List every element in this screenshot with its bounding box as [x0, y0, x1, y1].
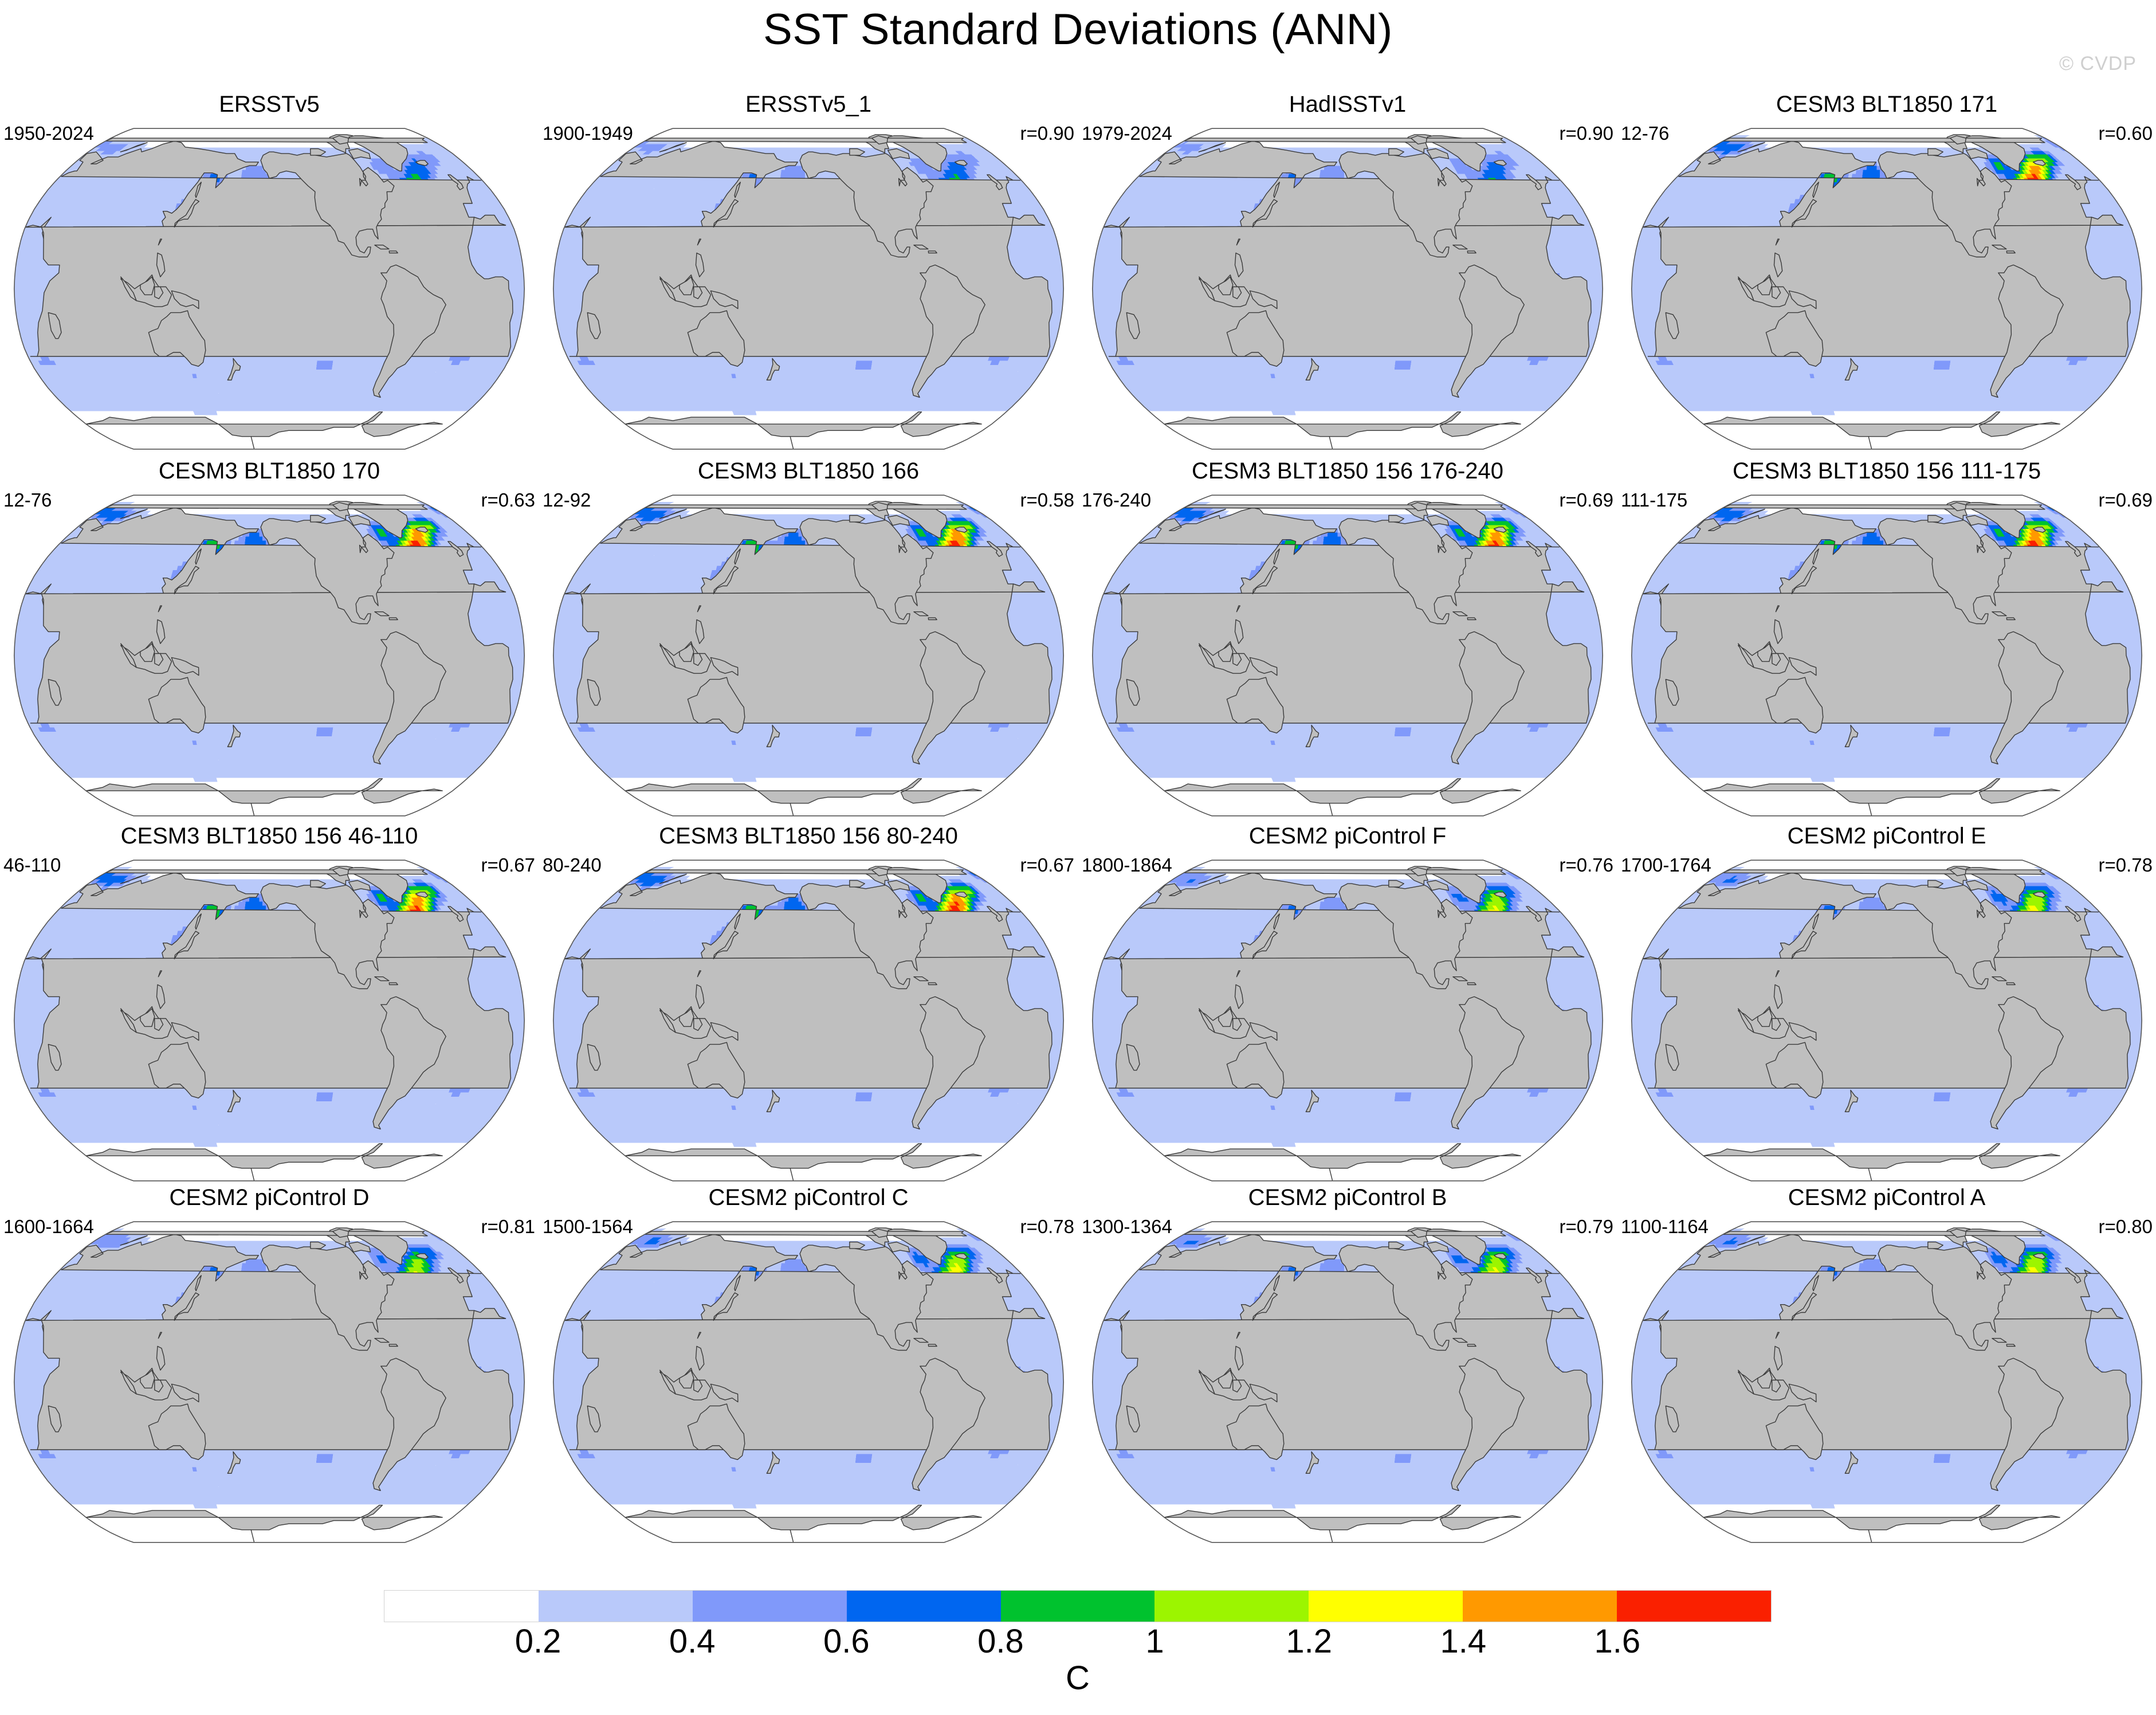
map-projection [10, 1212, 528, 1545]
colorbar-segment [693, 1591, 847, 1622]
colorbar-segment [1001, 1591, 1155, 1622]
colorbar-tick-label: 1.6 [1595, 1625, 1641, 1658]
map-projection [1628, 1212, 2146, 1545]
map-projection [1089, 851, 1607, 1183]
colorbar-unit-label: C [384, 1662, 1772, 1695]
colorbar-tick-label: 0.4 [669, 1625, 716, 1658]
panel-title: CESM3 BLT1850 156 176-240 [1078, 460, 1617, 482]
map-panel: CESM3 BLT1850 17012-76r=0.63 [0, 458, 539, 825]
map-panel: CESM3 BLT1850 156 80-24080-240r=0.67 [539, 823, 1078, 1190]
colorbar-ticks: 0.20.40.60.811.21.41.6 [384, 1625, 1772, 1659]
colorbar-tick-label: 1.4 [1440, 1625, 1486, 1658]
colorbar-segment [1463, 1591, 1617, 1622]
map-projection [1089, 1212, 1607, 1545]
panel-title: CESM2 piControl E [1617, 825, 2156, 847]
map-projection [1089, 486, 1607, 818]
map-panel: CESM3 BLT1850 16612-92r=0.58 [539, 458, 1078, 825]
panel-title: CESM3 BLT1850 166 [539, 460, 1078, 482]
panel-title: HadISSTv1 [1078, 93, 1617, 116]
colorbar [384, 1590, 1772, 1622]
colorbar-segment [539, 1591, 693, 1622]
map-panel: CESM2 piControl F1800-1864r=0.76 [1078, 823, 1617, 1190]
map-panel: CESM3 BLT1850 156 176-240176-240r=0.69 [1078, 458, 1617, 825]
map-panel: CESM2 piControl B1300-1364r=0.79 [1078, 1185, 1617, 1552]
map-projection [1089, 119, 1607, 452]
map-panel: CESM2 piControl D1600-1664r=0.81 [0, 1185, 539, 1552]
panel-title: CESM3 BLT1850 156 80-240 [539, 825, 1078, 847]
panel-grid: ERSSTv51950-2024ERSSTv5_11900-1949r=0.90… [0, 92, 2156, 1559]
panel-title: CESM2 piControl C [539, 1186, 1078, 1209]
panel-title: CESM3 BLT1850 170 [0, 460, 539, 482]
map-panel: ERSSTv5_11900-1949r=0.90 [539, 92, 1078, 458]
map-panel: CESM3 BLT1850 156 46-11046-110r=0.67 [0, 823, 539, 1190]
panel-title: CESM2 piControl A [1617, 1186, 2156, 1209]
panel-title: CESM3 BLT1850 156 111-175 [1617, 460, 2156, 482]
panel-title: ERSSTv5 [0, 93, 539, 116]
map-projection [549, 486, 1067, 818]
figure-title: SST Standard Deviations (ANN) [0, 8, 2156, 52]
panel-title: CESM3 BLT1850 156 46-110 [0, 825, 539, 847]
map-projection [549, 851, 1067, 1183]
colorbar-tick-label: 0.8 [977, 1625, 1024, 1658]
colorbar-tick-label: 1.2 [1286, 1625, 1332, 1658]
map-projection [549, 1212, 1067, 1545]
map-projection [10, 486, 528, 818]
colorbar-segment [847, 1591, 1001, 1622]
map-projection [1628, 486, 2146, 818]
panel-title: CESM2 piControl D [0, 1186, 539, 1209]
map-projection [1628, 119, 2146, 452]
map-projection [549, 119, 1067, 452]
map-panel: CESM3 BLT1850 156 111-175111-175r=0.69 [1617, 458, 2156, 825]
map-panel: CESM2 piControl C1500-1564r=0.78 [539, 1185, 1078, 1552]
colorbar-tick-label: 0.6 [823, 1625, 870, 1658]
panel-title: CESM2 piControl F [1078, 825, 1617, 847]
map-panel: CESM2 piControl A1100-1164r=0.80 [1617, 1185, 2156, 1552]
map-panel: HadISSTv11979-2024r=0.90 [1078, 92, 1617, 458]
map-panel: CESM2 piControl E1700-1764r=0.78 [1617, 823, 2156, 1190]
colorbar-segment [1154, 1591, 1309, 1622]
panel-title: ERSSTv5_1 [539, 93, 1078, 116]
map-panel: CESM3 BLT1850 17112-76r=0.60 [1617, 92, 2156, 458]
colorbar-segment [1309, 1591, 1463, 1622]
figure-root: SST Standard Deviations (ANN) © CVDP ERS… [0, 0, 2156, 1715]
colorbar-tick-label: 0.2 [515, 1625, 561, 1658]
panel-title: CESM2 piControl B [1078, 1186, 1617, 1209]
map-panel: ERSSTv51950-2024 [0, 92, 539, 458]
colorbar-tick-label: 1 [1145, 1625, 1164, 1658]
cvdp-watermark: © CVDP [2059, 53, 2137, 75]
panel-title: CESM3 BLT1850 171 [1617, 93, 2156, 116]
colorbar-segment [384, 1591, 539, 1622]
map-projection [1628, 851, 2146, 1183]
map-projection [10, 851, 528, 1183]
map-projection [10, 119, 528, 452]
colorbar-segment [1617, 1591, 1771, 1622]
